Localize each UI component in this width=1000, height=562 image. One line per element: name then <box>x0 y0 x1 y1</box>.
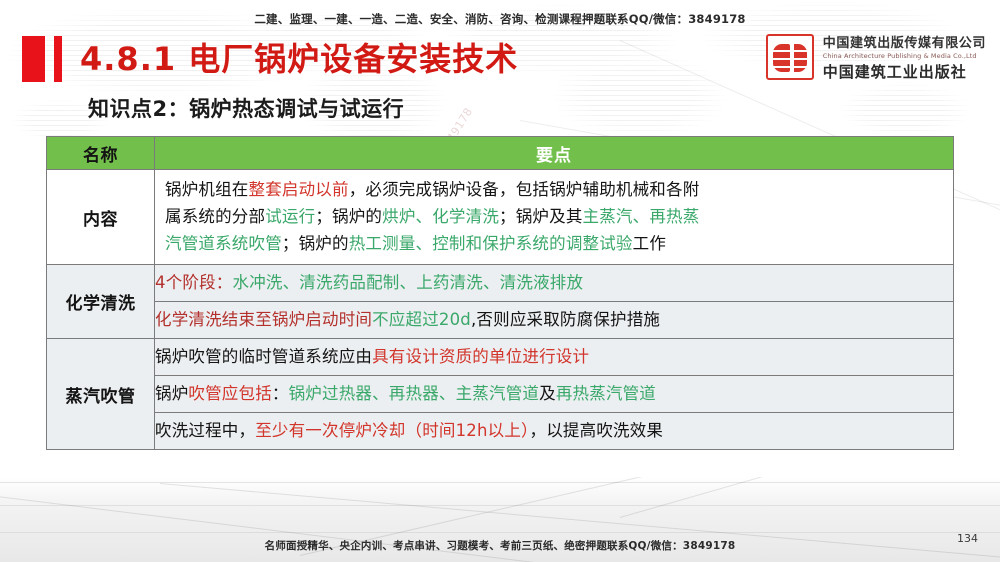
text-segment: 化学清洗结束至锅炉启动时间 <box>155 310 372 329</box>
text-segment: 锅炉 <box>155 384 188 403</box>
row-content-1-1: 化学清洗结束至锅炉启动时间不应超过20d,否则应采取防腐保护措施 <box>155 302 954 339</box>
slide-canvas: 二建、监理、一建、一造、二造、安全、消防、咨询、检测课程押题联系QQ/微信：38… <box>0 0 1000 562</box>
text-segment: ,否则应采取防腐保护措施 <box>471 310 660 329</box>
logo-company-cn: 中国建筑出版传媒有限公司 <box>823 32 986 51</box>
row-content-2-1: 锅炉吹管应包括：锅炉过热器、再热器、主蒸汽管道及再热蒸汽管道 <box>155 376 954 413</box>
table-row: 蒸汽吹管锅炉吹管的临时管道系统应由具有设计资质的单位进行设计 <box>47 339 954 376</box>
knowledge-table: 名称 要点 内容锅炉机组在整套启动以前，必须完成锅炉设备，包括锅炉辅助机械和各附… <box>46 136 954 450</box>
background-perspective-line <box>620 477 1000 518</box>
text-segment: 不应超过20d <box>372 310 471 329</box>
row-label-0: 内容 <box>47 170 155 265</box>
column-header-name: 名称 <box>47 137 155 170</box>
text-segment: ，必须完成锅炉设备，包括锅炉辅助机械和各附 <box>349 180 700 199</box>
column-header-points: 要点 <box>155 137 954 170</box>
top-promo-text: 二建、监理、一建、一造、二造、安全、消防、咨询、检测课程押题联系QQ/微信：38… <box>0 11 1000 27</box>
text-segment: 锅炉过热器、再热器、主蒸汽管道 <box>289 384 540 403</box>
text-segment: 试运行 <box>265 207 315 226</box>
publisher-logo: 中国建筑出版传媒有限公司 China Architecture Publishi… <box>766 32 986 82</box>
row-label-1: 化学清洗 <box>47 265 155 339</box>
text-segment: 再热蒸汽管道 <box>556 384 656 403</box>
row-content-0: 锅炉机组在整套启动以前，必须完成锅炉设备，包括锅炉辅助机械和各附属系统的分部试运… <box>155 170 954 265</box>
logo-company-en: China Architecture Publishing & Media Co… <box>823 52 986 60</box>
row-content-2-2: 吹洗过程中，至少有一次停炉冷却（时间12h以上），以提高吹洗效果 <box>155 413 954 450</box>
text-segment: 锅炉机组在 <box>165 180 249 199</box>
publisher-book-icon <box>766 34 814 80</box>
row-content-2-0: 锅炉吹管的临时管道系统应由具有设计资质的单位进行设计 <box>155 339 954 376</box>
text-segment: 工作 <box>633 234 666 253</box>
text-segment: 4个阶段： <box>155 273 233 292</box>
text-segment: ： <box>272 384 289 403</box>
row-label-2: 蒸汽吹管 <box>47 339 155 450</box>
text-segment: 热工测量、控制和保护系统的调整试验 <box>349 234 633 253</box>
text-segment: 汽管道系统吹管 <box>165 234 282 253</box>
text-segment: 属系统的分部 <box>165 207 265 226</box>
text-segment: ，以提高吹洗效果 <box>530 421 664 440</box>
row-content-1-0: 4个阶段：水冲洗、清洗药品配制、上药清洗、清洗液排放 <box>155 265 954 302</box>
table-row: 化学清洗结束至锅炉启动时间不应超过20d,否则应采取防腐保护措施 <box>47 302 954 339</box>
title-accent-bar-narrow <box>54 36 62 82</box>
text-segment: 烘炉、化学清洗 <box>382 207 499 226</box>
content-line: 属系统的分部试运行；锅炉的烘炉、化学清洗；锅炉及其主蒸汽、再热蒸 <box>165 203 945 230</box>
table-header-row: 名称 要点 <box>47 137 954 170</box>
table-body: 内容锅炉机组在整套启动以前，必须完成锅炉设备，包括锅炉辅助机械和各附属系统的分部… <box>47 170 954 450</box>
page-title: 4.8.1 电厂锅炉设备安装技术 <box>80 36 518 82</box>
text-segment: 吹管应包括 <box>188 384 272 403</box>
text-segment: 具有设计资质的单位进行设计 <box>372 347 589 366</box>
content-line: 汽管道系统吹管；锅炉的热工测量、控制和保护系统的调整试验工作 <box>165 230 945 257</box>
table-row: 锅炉吹管应包括：锅炉过热器、再热器、主蒸汽管道及再热蒸汽管道 <box>47 376 954 413</box>
page-number: 134 <box>957 532 978 545</box>
slide-title: 4.8.1 电厂锅炉设备安装技术 <box>22 34 518 84</box>
logo-press-cn: 中国建筑工业出版社 <box>823 61 986 82</box>
text-segment: 吹洗过程中， <box>155 421 255 440</box>
text-segment: 水冲洗、清洗药品配制、上药清洗、清洗液排放 <box>233 273 584 292</box>
footer-promo-text: 名师面授精华、央企内训、考点串讲、习题模考、考前三页纸、绝密押题联系QQ/微信：… <box>0 538 1000 553</box>
table-row: 吹洗过程中，至少有一次停炉冷却（时间12h以上），以提高吹洗效果 <box>47 413 954 450</box>
content-line: 锅炉机组在整套启动以前，必须完成锅炉设备，包括锅炉辅助机械和各附 <box>165 176 945 203</box>
table-row: 化学清洗4个阶段：水冲洗、清洗药品配制、上药清洗、清洗液排放 <box>47 265 954 302</box>
text-segment: 主蒸汽、再热蒸 <box>583 207 700 226</box>
text-segment: 至少有一次停炉冷却（时间12h以上） <box>255 421 529 440</box>
page-subtitle: 知识点2：锅炉热态调试与试运行 <box>88 93 404 123</box>
text-segment: ；锅炉及其 <box>499 207 583 226</box>
text-segment: ；锅炉的 <box>282 234 349 253</box>
text-segment: ；锅炉的 <box>315 207 382 226</box>
table-row: 内容锅炉机组在整套启动以前，必须完成锅炉设备，包括锅炉辅助机械和各附属系统的分部… <box>47 170 954 265</box>
title-accent-bar-wide <box>22 36 45 82</box>
text-segment: 整套启动以前 <box>249 180 349 199</box>
text-segment: 及 <box>539 384 556 403</box>
text-segment: 锅炉吹管的临时管道系统应由 <box>155 347 372 366</box>
